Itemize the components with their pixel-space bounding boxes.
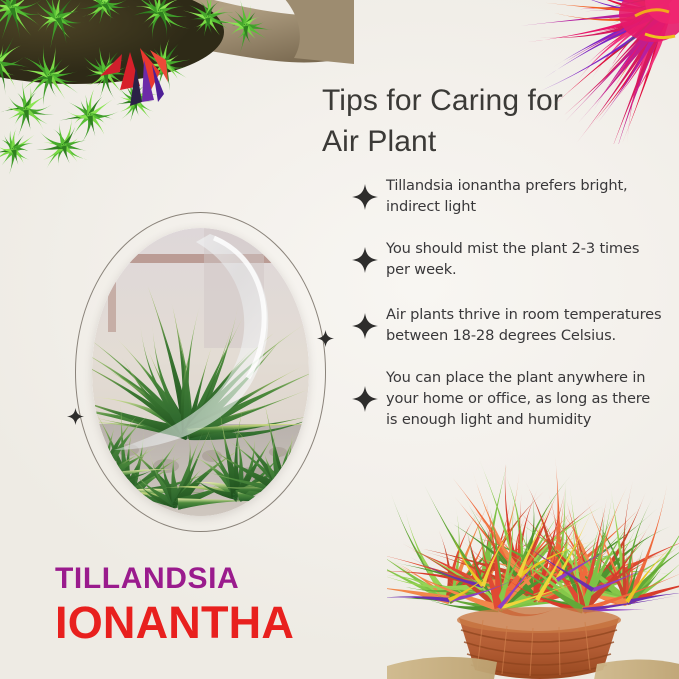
list-item: Tillandsia ionantha prefers bright, indi… <box>352 176 664 217</box>
infographic-poster: Tips for Caring for Air Plant Tillandsia… <box>0 0 679 679</box>
list-item: Air plants thrive in room temperatures b… <box>352 305 664 346</box>
list-item-text: Tillandsia ionantha prefers bright, indi… <box>386 176 664 217</box>
species-label: IONANTHA <box>55 600 294 645</box>
list-item: You should mist the plant 2-3 times per … <box>352 239 664 280</box>
list-item-text: You should mist the plant 2-3 times per … <box>386 239 664 280</box>
four-point-star-icon <box>352 184 378 210</box>
list-item-text: You can place the plant anywhere in your… <box>386 368 664 430</box>
four-point-star-icon <box>352 386 378 412</box>
top-left-airplant-cluster-image <box>0 0 354 210</box>
oval-photo-frame <box>75 212 326 532</box>
page-title-line-2: Air Plant <box>322 121 652 162</box>
photo-mat <box>92 228 309 516</box>
four-point-star-icon <box>352 247 378 273</box>
page-title: Tips for Caring for Air Plant <box>322 80 652 163</box>
four-point-star-accent-icon <box>317 330 334 347</box>
airplant-photo <box>92 228 309 516</box>
tips-list: Tillandsia ionantha prefers bright, indi… <box>352 176 664 430</box>
page-title-line-1: Tips for Caring for <box>322 80 652 121</box>
list-item-text: Air plants thrive in room temperatures b… <box>386 305 664 346</box>
four-point-star-accent-icon <box>67 408 84 425</box>
species-wordmark: TILLANDSIA IONANTHA <box>55 564 294 645</box>
list-item: You can place the plant anywhere in your… <box>352 368 664 430</box>
bottom-right-basket-plant-image <box>387 450 679 679</box>
genus-label: TILLANDSIA <box>55 564 294 594</box>
four-point-star-icon <box>352 313 378 339</box>
